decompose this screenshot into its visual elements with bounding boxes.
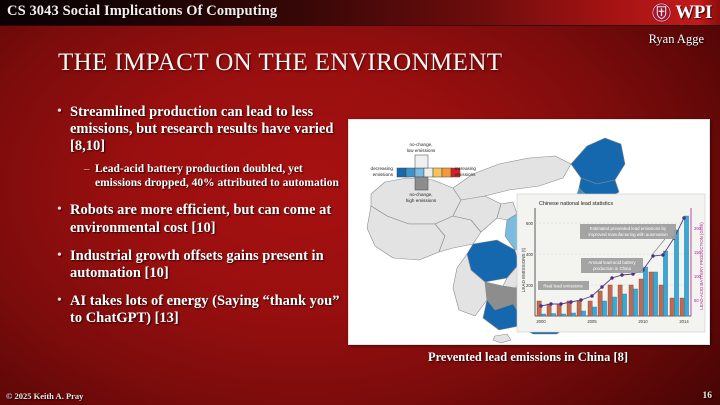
legend-label-decreasing-2: emissions xyxy=(373,172,394,177)
chart-annotation-prevented-2: improved manufacturing with automation xyxy=(588,232,668,237)
chart-annotation-battery-1: Annual lead-acid battery xyxy=(588,260,636,265)
bullet-text: Streamlined production can lead to less … xyxy=(70,104,349,155)
chart-annotation-battery-2: production in China xyxy=(593,266,631,271)
bullet-marker: – xyxy=(84,163,95,176)
list-item: • Streamlined production can lead to les… xyxy=(57,104,349,155)
legend-label-nochange-low-1: no-change, xyxy=(410,142,433,147)
bullet-marker: • xyxy=(57,202,70,219)
axis-label-left: LEAD EMISSIONS (t) xyxy=(521,247,526,292)
list-item: • Industrial growth offsets gains presen… xyxy=(57,248,349,282)
bullet-text: Robots are more efficient, but can come … xyxy=(70,202,349,236)
course-title: CS 3043 Social Implications Of Computing xyxy=(7,3,277,20)
xtick-2005: 2005 xyxy=(587,319,597,324)
axis-label-right: LEAD-ACID BATTERY PRODUCTION (GWh) xyxy=(699,222,704,310)
legend-label-nochange-high-2: high emissions xyxy=(406,198,437,203)
legend-label-decreasing-1: decreasing xyxy=(371,166,394,171)
chart-annotation-real-emissions: Real lead emissions xyxy=(543,284,583,289)
bullet-text: Lead-acid battery production doubled, ye… xyxy=(95,163,349,190)
list-item: – Lead-acid battery production doubled, … xyxy=(84,163,349,190)
xtick-2014: 2014 xyxy=(679,319,689,324)
figure-image: decreasing emissions increasing emission… xyxy=(348,119,710,345)
page-title: THE IMPACT ON THE ENVIRONMENT xyxy=(58,49,502,77)
bullet-list: • Streamlined production can lead to les… xyxy=(57,104,349,338)
ytick-left-600: 600 xyxy=(526,221,534,226)
copyright-notice: © 2025 Keith A. Pray xyxy=(6,391,83,401)
figure-caption: Prevented lead emissions in China [8] xyxy=(348,350,708,365)
xtick-2000: 2000 xyxy=(536,319,546,324)
ytick-left-400: 400 xyxy=(526,252,534,257)
chart-annotation-prevented-1: Estimated prevented lead emissions by xyxy=(590,226,667,231)
bullet-text: AI takes lots of energy (Saying “thank y… xyxy=(70,293,349,327)
bullet-marker: • xyxy=(57,248,70,265)
wpi-seal-icon xyxy=(651,2,672,23)
xtick-2010: 2010 xyxy=(638,319,648,324)
legend-label-increasing-2: emissions xyxy=(455,172,476,177)
slide-number: 16 xyxy=(703,391,713,401)
wpi-wordmark: WPI xyxy=(675,2,712,23)
chart-title: Chinese national lead statistics xyxy=(539,201,613,207)
bullet-text: Industrial growth offsets gains present … xyxy=(70,248,349,282)
china-lead-emissions-figure: decreasing emissions increasing emission… xyxy=(349,120,709,344)
legend-label-increasing-1: increasing xyxy=(455,166,476,171)
slide-canvas: CS 3043 Social Implications Of Computing… xyxy=(0,0,720,405)
legend-label-nochange-low-2: low emissions xyxy=(407,148,436,153)
list-item: • AI takes lots of energy (Saying “thank… xyxy=(57,293,349,327)
slide-banner: CS 3043 Social Implications Of Computing xyxy=(0,0,720,25)
inset-chart: 200 400 600 50 100 150 200 2000 2005 201… xyxy=(517,194,705,332)
ytick-left-200: 200 xyxy=(526,283,534,288)
wpi-logo: WPI xyxy=(651,1,712,24)
list-item: • Robots are more efficient, but can com… xyxy=(57,202,349,236)
legend-label-nochange-high-1: no-change, xyxy=(410,192,433,197)
bullet-marker: • xyxy=(57,104,70,121)
bullet-marker: • xyxy=(57,293,70,310)
author-name: Ryan Agge xyxy=(649,32,704,47)
